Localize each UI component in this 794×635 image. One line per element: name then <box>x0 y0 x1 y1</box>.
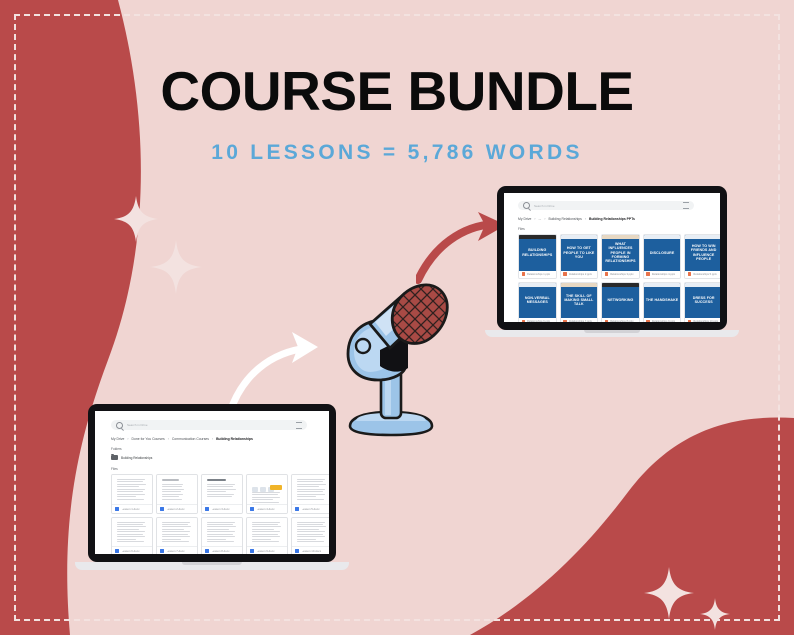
lesson-tile-filename: Relationships 7.pptx <box>569 320 592 322</box>
lesson-tile-footer: Relationships 5.pptx <box>685 271 720 278</box>
doc-page-preview <box>247 518 287 547</box>
lesson-tile-filename: Relationships 2.pptx <box>569 273 592 276</box>
slide-toolbar-strip <box>644 235 681 239</box>
lesson-tile-filename: Relationships 9.pptx <box>652 320 675 322</box>
lesson-tile-thumbnail: THE HANDSHAKE <box>644 283 681 319</box>
drive-ui-top: Search in Drive My Drive › ... › Buildin… <box>504 193 720 322</box>
lesson-tile-thumbnail: NETWORKING <box>602 283 639 319</box>
lesson-tile-thumbnail: BUILDING RELATIONSHIPS <box>519 235 556 271</box>
lesson-tile-filename: Relationships 1.pptx <box>527 273 550 276</box>
lesson-tile-footer: Relationships 1.pptx <box>519 271 556 278</box>
slides-icon <box>563 320 567 322</box>
search-placeholder: Search in Drive <box>534 204 555 208</box>
laptop-lid-bottom: Search in Drive My Drive › Done for You … <box>88 404 336 562</box>
doc-tile-filename: Lesson 6.docx <box>122 549 140 553</box>
breadcrumb-item-0[interactable]: My Drive <box>111 437 124 441</box>
doc-tile-footer: Lesson 5.docx <box>292 504 329 513</box>
breadcrumb-item-3[interactable]: Building Relationships PPTs <box>589 217 635 221</box>
sparkle-top-left-2-icon <box>150 240 202 294</box>
lesson-tile-title: WHAT INFLUENCES PEOPLE IN FORMING RELATI… <box>602 242 639 263</box>
doc-page-preview <box>112 518 152 547</box>
tune-icon[interactable] <box>296 422 302 429</box>
folder-icon <box>111 455 118 460</box>
search-input[interactable]: Search in Drive <box>518 201 694 210</box>
sparkle-top-left-1-icon <box>114 196 158 242</box>
lesson-tile-filename: Relationships 10.pptx <box>693 320 718 322</box>
doc-tile-filename: Lesson 1.docx <box>122 507 140 511</box>
laptop-base-top <box>485 330 739 337</box>
folder-row[interactable]: Building Relationships <box>111 455 152 460</box>
docs-icon <box>115 549 119 553</box>
doc-tile-footer: Lesson 2.docx <box>157 504 197 513</box>
search-icon <box>523 202 530 209</box>
docs-icon <box>115 507 119 511</box>
lesson-tile[interactable]: THE HANDSHAKERelationships 9.pptx <box>643 282 682 323</box>
breadcrumb-item-2[interactable]: Communication Courses <box>172 437 209 441</box>
breadcrumb-item-0[interactable]: My Drive <box>518 217 531 221</box>
doc-tile-filename: Lesson 3.docx <box>212 507 230 511</box>
tune-icon[interactable] <box>683 202 689 209</box>
slides-icon <box>605 320 609 322</box>
doc-page-preview <box>202 475 242 504</box>
slide-toolbar-strip <box>561 235 598 239</box>
docs-icon <box>205 507 209 511</box>
breadcrumb-item-1[interactable]: Done for You Courses <box>132 437 165 441</box>
slides-icon <box>522 272 526 276</box>
doc-page-preview <box>157 518 197 547</box>
laptop-base-bottom <box>75 562 349 570</box>
doc-page-preview <box>112 475 152 504</box>
page-subtitle: 10 LESSONS = 5,786 WORDS <box>0 140 794 166</box>
breadcrumb-item-1[interactable]: ... <box>539 217 542 221</box>
lesson-document-tile[interactable]: Lesson 5.docx <box>291 474 329 514</box>
breadcrumb-item-3[interactable]: Building Relationships <box>216 437 253 441</box>
slides-icon <box>646 272 650 276</box>
doc-tile-footer: Lesson 9.docx <box>247 546 287 554</box>
lesson-tile-footer: Relationships 3.pptx <box>602 271 639 278</box>
lesson-tile-title: BUILDING RELATIONSHIPS <box>519 248 556 257</box>
slide-toolbar-strip <box>602 283 639 287</box>
lesson-tile[interactable]: WHAT INFLUENCES PEOPLE IN FORMING RELATI… <box>601 234 640 279</box>
lesson-document-tile[interactable]: Lesson 6.docx <box>111 517 153 555</box>
lesson-tile-footer: Relationships 2.pptx <box>561 271 598 278</box>
doc-tile-filename: Lesson 2.docx <box>167 507 185 511</box>
doc-page-preview <box>157 475 197 504</box>
lesson-tile[interactable]: THE SKILL OF MAKING SMALL TALKRelationsh… <box>560 282 599 323</box>
lesson-tile-thumbnail: HOW TO GET PEOPLE TO LIKE YOU <box>561 235 598 271</box>
breadcrumb-separator: › <box>544 217 545 221</box>
slide-toolbar-strip <box>644 283 681 287</box>
white-curved-arrow-icon <box>222 330 334 414</box>
doc-page-preview <box>247 475 287 504</box>
lesson-tile-title: NETWORKING <box>606 298 636 302</box>
breadcrumb-item-2[interactable]: Building Relationships <box>548 217 581 221</box>
slides-icon <box>605 272 609 276</box>
lesson-document-tile[interactable]: Lesson 9.docx <box>246 517 288 555</box>
slide-toolbar-strip <box>519 235 556 239</box>
slide-toolbar-strip <box>685 235 720 239</box>
section-label-files: Files <box>111 467 118 471</box>
section-label-folders: Folders <box>111 447 122 451</box>
doc-page-preview <box>292 475 329 504</box>
lesson-tile-thumbnail: HOW TO WIN FRIENDS AND INFLUENCE PEOPLE <box>685 235 720 271</box>
lesson-tile-title: DRESS FOR SUCCESS <box>685 296 720 305</box>
lesson-tile[interactable]: BUILDING RELATIONSHIPSRelationships 1.pp… <box>518 234 557 279</box>
lesson-tile-footer: Relationships 8.pptx <box>602 318 639 322</box>
laptop-lid-top: Search in Drive My Drive › ... › Buildin… <box>497 186 727 330</box>
lesson-document-tile[interactable]: Lesson 8.docx <box>201 517 243 555</box>
lesson-tile-title: THE HANDSHAKE <box>644 298 680 302</box>
slides-icon <box>688 272 692 276</box>
lesson-document-tile[interactable]: Lesson 10.docx <box>291 517 329 555</box>
lesson-tile-filename: Relationships 3.pptx <box>610 273 633 276</box>
lesson-tile-footer: Relationships 10.pptx <box>685 318 720 322</box>
lesson-document-tile[interactable]: Lesson 4.docx <box>246 474 288 514</box>
doc-tile-footer: Lesson 1.docx <box>112 504 152 513</box>
section-label-files: Files <box>518 227 525 231</box>
doc-highlight <box>270 485 282 490</box>
breadcrumb: My Drive › Done for You Courses › Commun… <box>111 437 253 441</box>
doc-tile-filename: Lesson 9.docx <box>257 549 275 553</box>
lesson-tile-footer: Relationships 4.pptx <box>644 271 681 278</box>
docs-icon <box>250 549 254 553</box>
slide-toolbar-strip <box>685 283 720 287</box>
doc-tile-filename: Lesson 5.docx <box>302 507 320 511</box>
laptop-course-documents: Search in Drive My Drive › Done for You … <box>88 404 336 580</box>
doc-tile-footer: Lesson 8.docx <box>202 546 242 554</box>
page-title: COURSE BUNDLE <box>0 62 794 120</box>
slide-toolbar-strip <box>519 283 556 287</box>
drive-ui-bottom: Search in Drive My Drive › Done for You … <box>95 411 329 554</box>
lesson-tile-title: THE SKILL OF MAKING SMALL TALK <box>561 294 598 307</box>
lesson-tile-thumbnail: DISCLOSURE <box>644 235 681 271</box>
search-placeholder: Search in Drive <box>127 423 148 427</box>
slides-icon <box>688 320 692 322</box>
slides-icon <box>563 272 567 276</box>
lesson-tile-thumbnail: WHAT INFLUENCES PEOPLE IN FORMING RELATI… <box>602 235 639 271</box>
lesson-tile[interactable]: NON-VERBAL MESSAGESRelationships 6.pptx <box>518 282 557 323</box>
lesson-tile-grid: BUILDING RELATIONSHIPSRelationships 1.pp… <box>518 234 720 322</box>
sparkle-bottom-right-2-icon <box>700 598 730 630</box>
lesson-tile[interactable]: DRESS FOR SUCCESSRelationships 10.pptx <box>684 282 720 323</box>
docs-icon <box>160 507 164 511</box>
doc-tile-filename: Lesson 10.docx <box>302 549 322 553</box>
search-input[interactable]: Search in Drive <box>111 420 307 430</box>
lesson-tile[interactable]: NETWORKINGRelationships 8.pptx <box>601 282 640 323</box>
breadcrumb-separator: › <box>534 217 535 221</box>
doc-page-preview <box>202 518 242 547</box>
laptop-screen-top: Search in Drive My Drive › ... › Buildin… <box>504 193 720 322</box>
folder-name: Building Relationships <box>121 456 152 460</box>
doc-tile-footer: Lesson 6.docx <box>112 546 152 554</box>
lesson-tile-filename: Relationships 5.pptx <box>693 273 716 276</box>
laptop-course-lessons: Search in Drive My Drive › ... › Buildin… <box>497 186 727 346</box>
lesson-tile-thumbnail: NON-VERBAL MESSAGES <box>519 283 556 319</box>
slides-icon <box>522 320 526 322</box>
sparkle-bottom-right-1-icon <box>644 567 694 619</box>
lesson-document-tile[interactable]: Lesson 7.docx <box>156 517 198 555</box>
lesson-tile-title: NON-VERBAL MESSAGES <box>519 296 556 305</box>
doc-page-preview <box>292 518 329 547</box>
search-icon <box>116 422 123 429</box>
lesson-tile-footer: Relationships 9.pptx <box>644 318 681 322</box>
docs-icon <box>295 549 299 553</box>
breadcrumb: My Drive › ... › Building Relationships … <box>518 217 635 221</box>
doc-tile-filename: Lesson 4.docx <box>257 507 275 511</box>
slide-toolbar-strip <box>602 235 639 239</box>
lesson-tile[interactable]: HOW TO WIN FRIENDS AND INFLUENCE PEOPLER… <box>684 234 720 279</box>
poster-canvas: COURSE BUNDLE 10 LESSONS = 5,786 WORDS <box>0 0 794 635</box>
laptop-screen-bottom: Search in Drive My Drive › Done for You … <box>95 411 329 554</box>
slides-icon <box>646 320 650 322</box>
lesson-tile-filename: Relationships 6.pptx <box>527 320 550 322</box>
docs-icon <box>205 549 209 553</box>
docs-icon <box>160 549 164 553</box>
breadcrumb-separator: › <box>127 437 128 441</box>
docs-icon <box>250 507 254 511</box>
lesson-tile-title: HOW TO WIN FRIENDS AND INFLUENCE PEOPLE <box>685 244 720 261</box>
doc-tile-footer: Lesson 4.docx <box>247 504 287 513</box>
lesson-document-tile[interactable]: Lesson 2.docx <box>156 474 198 514</box>
doc-tile-filename: Lesson 8.docx <box>212 549 230 553</box>
lesson-tile-title: DISCLOSURE <box>648 251 677 255</box>
lesson-tile[interactable]: HOW TO GET PEOPLE TO LIKE YOURelationshi… <box>560 234 599 279</box>
lesson-tile[interactable]: DISCLOSURERelationships 4.pptx <box>643 234 682 279</box>
doc-tile-filename: Lesson 7.docx <box>167 549 185 553</box>
lesson-tile-thumbnail: THE SKILL OF MAKING SMALL TALK <box>561 283 598 319</box>
lesson-tile-footer: Relationships 7.pptx <box>561 318 598 322</box>
doc-tile-footer: Lesson 3.docx <box>202 504 242 513</box>
lesson-document-tile[interactable]: Lesson 1.docx <box>111 474 153 514</box>
breadcrumb-separator: › <box>168 437 169 441</box>
lesson-doc-grid: Lesson 1.docxLesson 2.docxLesson 3.docxL… <box>111 474 329 554</box>
vintage-microphone-illustration <box>330 258 452 440</box>
lesson-tile-title: HOW TO GET PEOPLE TO LIKE YOU <box>561 246 598 259</box>
breadcrumb-separator: › <box>212 437 213 441</box>
lesson-tile-filename: Relationships 4.pptx <box>652 273 675 276</box>
doc-tile-footer: Lesson 10.docx <box>292 546 329 554</box>
lesson-tile-thumbnail: DRESS FOR SUCCESS <box>685 283 720 319</box>
breadcrumb-separator: › <box>585 217 586 221</box>
doc-tile-footer: Lesson 7.docx <box>157 546 197 554</box>
docs-icon <box>295 507 299 511</box>
lesson-tile-footer: Relationships 6.pptx <box>519 318 556 322</box>
lesson-tile-filename: Relationships 8.pptx <box>610 320 633 322</box>
lesson-document-tile[interactable]: Lesson 3.docx <box>201 474 243 514</box>
slide-toolbar-strip <box>561 283 598 287</box>
